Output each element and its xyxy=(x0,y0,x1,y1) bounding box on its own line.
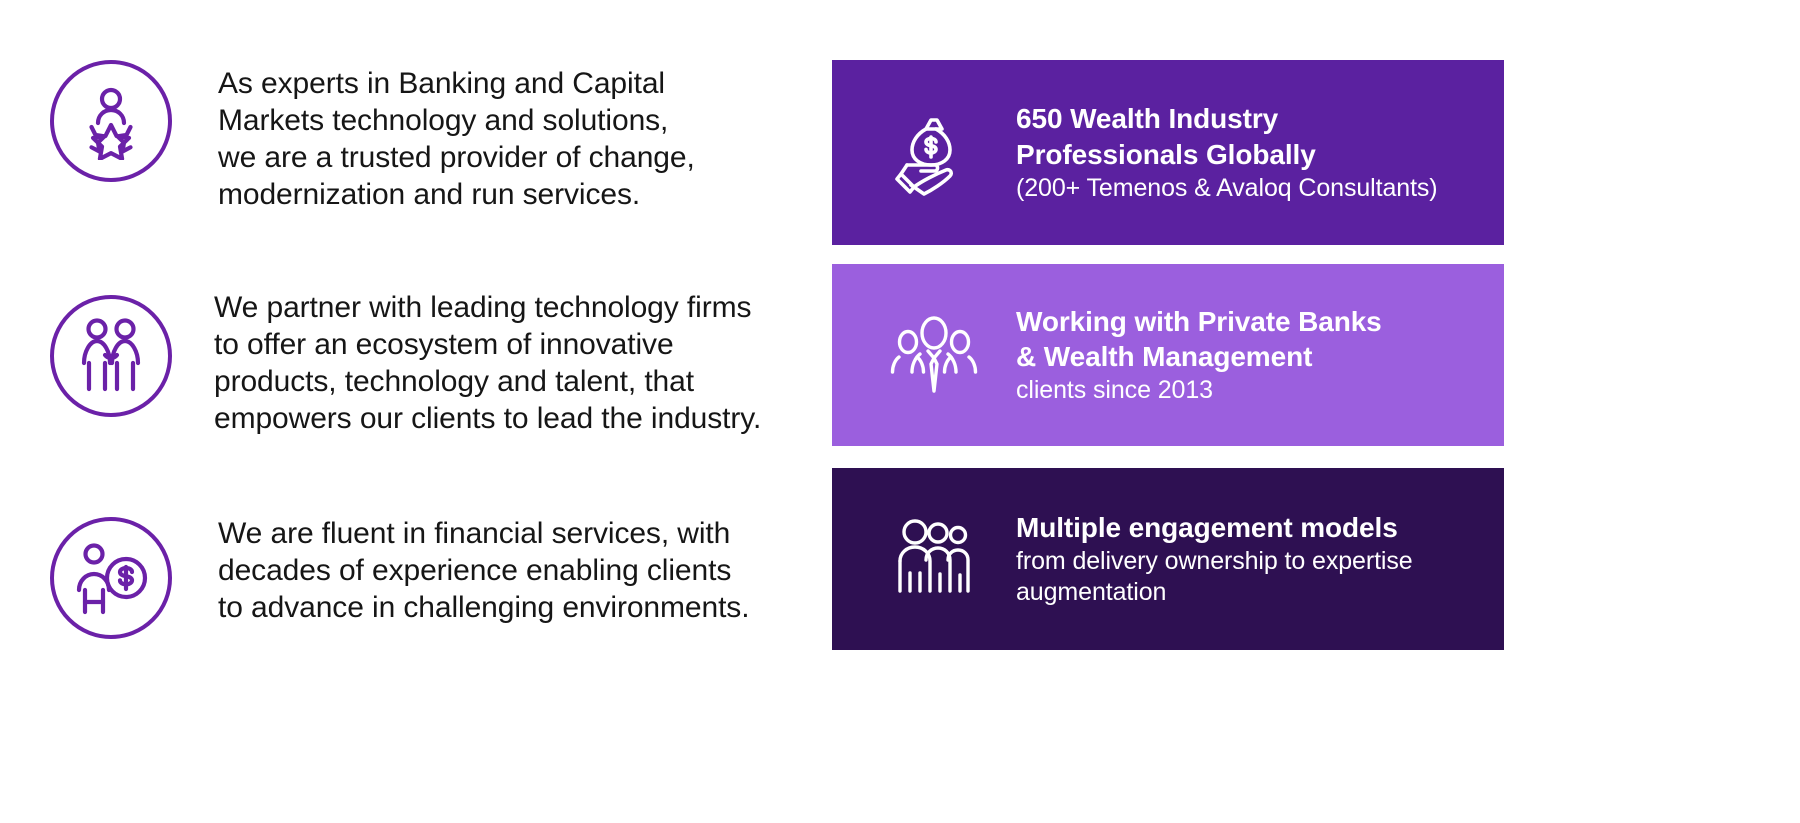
feature-text: As experts in Banking and Capital Market… xyxy=(218,60,695,214)
feature-text: We are fluent in financial services, wit… xyxy=(218,500,749,627)
three-people-group-icon xyxy=(886,307,982,403)
stat-card-subtitle: from delivery ownership to expertise aug… xyxy=(1016,546,1413,608)
two-people-partnership-icon xyxy=(50,295,172,417)
people-crowd-icon xyxy=(886,511,982,607)
stat-card-engagement-models: Multiple engagement models from delivery… xyxy=(832,468,1504,650)
stat-card-text: Working with Private Banks & Wealth Mana… xyxy=(1016,304,1382,407)
stat-card-wealth-professionals: 650 Wealth Industry Professionals Global… xyxy=(832,60,1504,245)
stat-card-title: Multiple engagement models xyxy=(1016,510,1413,545)
features-column: As experts in Banking and Capital Market… xyxy=(0,0,830,823)
stat-card-text: Multiple engagement models from delivery… xyxy=(1016,510,1413,608)
stat-card-title: Working with Private Banks & Wealth Mana… xyxy=(1016,304,1382,375)
infographic-page: As experts in Banking and Capital Market… xyxy=(0,0,1800,823)
stat-card-title: 650 Wealth Industry Professionals Global… xyxy=(1016,101,1438,172)
stat-card-text: 650 Wealth Industry Professionals Global… xyxy=(1016,101,1438,204)
feature-text: We partner with leading technology firms… xyxy=(214,278,761,438)
feature-item-financial-fluency: We are fluent in financial services, wit… xyxy=(50,500,830,639)
feature-item-partnership: We partner with leading technology firms… xyxy=(50,278,830,438)
stat-card-subtitle: clients since 2013 xyxy=(1016,375,1382,406)
hand-holding-money-bag-icon xyxy=(886,105,982,201)
feature-item-expertise: As experts in Banking and Capital Market… xyxy=(50,60,830,214)
stat-card-subtitle: (200+ Temenos & Avaloq Consultants) xyxy=(1016,173,1438,204)
stats-column: 650 Wealth Industry Professionals Global… xyxy=(832,0,1800,823)
person-with-stars-icon xyxy=(50,60,172,182)
stat-card-private-banks: Working with Private Banks & Wealth Mana… xyxy=(832,264,1504,446)
person-with-dollar-coin-icon xyxy=(50,517,172,639)
